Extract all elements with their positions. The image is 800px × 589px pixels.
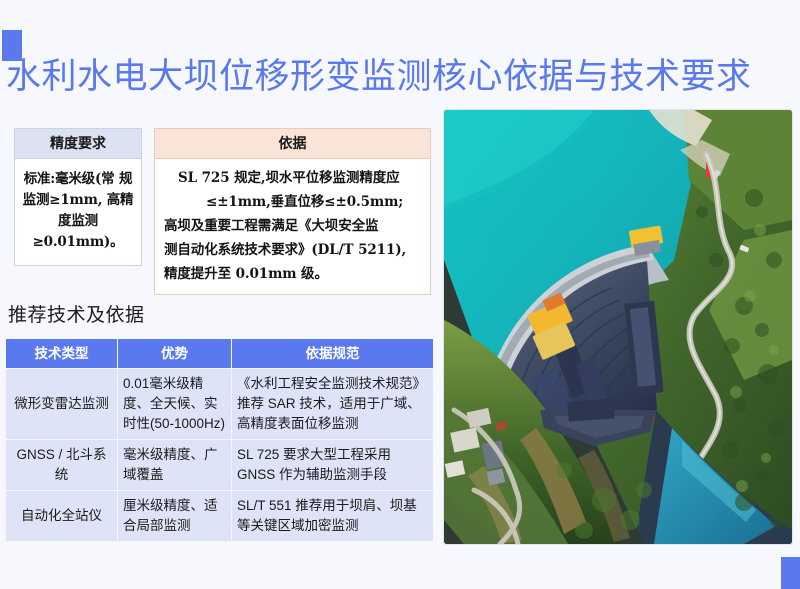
cell-standard: SL/T 551 推荐用于坝肩、坝基等关键区域加密监测 [232,491,434,542]
recommended-tech-table: 技术类型 优势 依据规范 微形变雷达监测 0.01毫米级精度、全天候、实时性(5… [5,338,434,542]
precision-card-header: 精度要求 [15,129,141,159]
cell-standard: 《水利工程安全监测技术规范》推荐 SAR 技术，适用于广域、高精度表面位移监测 [232,369,434,440]
cell-tech-type: 自动化全站仪 [6,491,118,542]
precision-line-1: 标准:毫米级(常 [24,171,115,187]
cell-standard: SL 725 要求大型工程采用 GNSS 作为辅助监测手段 [232,440,434,491]
recommended-tech-table-wrapper: 技术类型 优势 依据规范 微形变雷达监测 0.01毫米级精度、全天候、实时性(5… [5,338,433,542]
cell-advantage: 厘米级精度、适合局部监测 [118,491,232,542]
basis-line-2: ≤±1mm,垂直位移≤±0.5mm; [164,190,421,214]
basis-card: 依据 SL 725 规定,坝水平位移监测精度应 ≤±1mm,垂直位移≤±0.5m… [154,128,431,295]
basis-line-5: 精度提升至 0.01mm 级。 [164,262,421,286]
dam-photo-illustration [444,110,792,544]
cell-advantage: 毫米级精度、广域覆盖 [118,440,232,491]
precision-line-4: ≥0.01mm)。 [33,234,124,250]
column-header-tech-type: 技术类型 [6,339,118,369]
cell-tech-type: GNSS / 北斗系统 [6,440,118,491]
basis-card-header: 依据 [155,129,430,159]
accent-square-bottom-right [781,557,800,589]
precision-card-body: 标准:毫米级(常 规监测≥1mm, 高精度监测 ≥0.01mm)。 [15,159,141,265]
basis-line-1: SL 725 规定,坝水平位移监测精度应 [164,166,421,190]
table-row: 微形变雷达监测 0.01毫米级精度、全天候、实时性(50-1000Hz) 《水利… [6,369,434,440]
cell-advantage: 0.01毫米级精度、全天候、实时性(50-1000Hz) [118,369,232,440]
page-title: 水利水电大坝位移形变监测核心依据与技术要求 [6,55,796,99]
column-header-standard: 依据规范 [232,339,434,369]
section-heading-recommended-tech: 推荐技术及依据 [8,303,145,327]
column-header-advantage: 优势 [118,339,232,369]
dam-aerial-photo [444,110,792,544]
cell-tech-type: 微形变雷达监测 [6,369,118,440]
basis-card-body: SL 725 规定,坝水平位移监测精度应 ≤±1mm,垂直位移≤±0.5mm; … [155,159,430,294]
table-row: GNSS / 北斗系统 毫米级精度、广域覆盖 SL 725 要求大型工程采用 G… [6,440,434,491]
table-row: 自动化全站仪 厘米级精度、适合局部监测 SL/T 551 推荐用于坝肩、坝基等关… [6,491,434,542]
basis-line-4: 测自动化系统技术要求》(DL/T 5211), [164,238,421,262]
slide-canvas: 水利水电大坝位移形变监测核心依据与技术要求 精度要求 标准:毫米级(常 规监测≥… [0,0,800,589]
table-header-row: 技术类型 优势 依据规范 [6,339,434,369]
basis-line-3: 高坝及重要工程需满足《大坝安全监 [164,214,421,238]
precision-requirement-card: 精度要求 标准:毫米级(常 规监测≥1mm, 高精度监测 ≥0.01mm)。 [14,128,142,266]
